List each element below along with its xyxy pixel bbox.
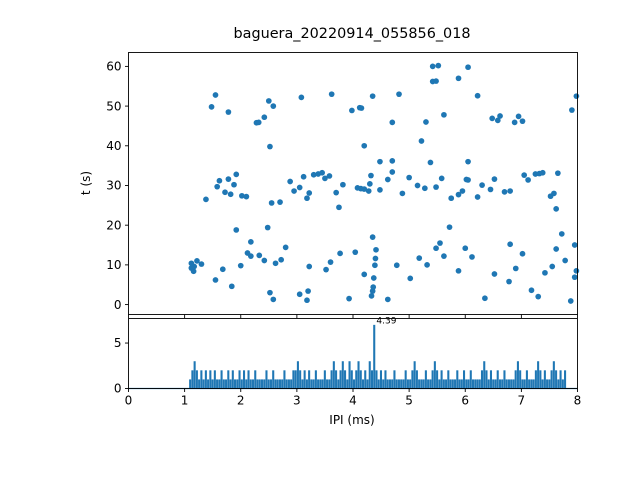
scatter-point	[228, 191, 234, 197]
histogram-bar	[239, 370, 241, 388]
histogram-bar	[227, 370, 229, 388]
histogram-bar	[560, 370, 562, 388]
scatter-point	[199, 261, 205, 267]
histogram-bar	[418, 379, 420, 388]
histogram-bar	[420, 379, 422, 388]
histogram-bar	[452, 379, 454, 388]
scatter-point	[189, 260, 195, 266]
histogram-bar	[524, 379, 526, 388]
histogram-bar	[191, 370, 193, 388]
histogram-bar	[537, 361, 539, 388]
histogram-bar	[216, 379, 218, 388]
scatter-point	[336, 204, 342, 210]
histogram-bar	[196, 370, 198, 388]
histogram-bar	[521, 379, 523, 388]
scatter-point	[266, 98, 272, 104]
histogram-bar	[443, 379, 445, 388]
histogram-bar	[551, 370, 553, 388]
scatter-point	[340, 182, 346, 188]
histogram-bar	[472, 379, 474, 388]
histogram-bar	[290, 379, 292, 388]
histogram-bar	[506, 379, 508, 388]
scatter-point	[209, 104, 215, 110]
histogram-bar	[218, 379, 220, 388]
histogram-bar	[355, 370, 357, 388]
histogram-bar	[508, 379, 510, 388]
histogram-bar	[414, 361, 416, 388]
scatter-point	[492, 271, 498, 277]
scatter-point	[349, 108, 355, 114]
scatter-point	[333, 190, 339, 196]
scatter-point	[256, 253, 262, 259]
histogram-bar	[465, 379, 467, 388]
histogram-bar	[241, 379, 243, 388]
histogram-bar	[256, 379, 258, 388]
histogram-bar	[542, 379, 544, 388]
scatter-point	[433, 78, 439, 84]
histogram-bar	[557, 379, 559, 388]
histogram-bar	[553, 361, 555, 388]
scatter-point	[559, 231, 565, 237]
scatter-point	[233, 172, 239, 178]
histogram-bar	[474, 379, 476, 388]
scatter-point	[366, 188, 372, 194]
histogram-bar	[236, 379, 238, 388]
scatter-point	[244, 194, 250, 200]
scatter-point	[287, 179, 293, 185]
histogram-bar	[279, 379, 281, 388]
scatter-point	[553, 206, 559, 212]
histogram-bar	[304, 370, 306, 388]
histogram-bar	[427, 379, 429, 388]
histogram-bar	[378, 379, 380, 388]
histogram-bar	[299, 370, 301, 388]
scatter-point	[269, 200, 275, 206]
scatter-point	[400, 191, 406, 197]
histogram-bar	[277, 379, 279, 388]
y-tick-label: 10	[106, 258, 121, 272]
histogram-bar	[391, 379, 393, 388]
histogram-bar	[310, 379, 312, 388]
scatter-point	[433, 184, 439, 190]
histogram-bar	[384, 370, 386, 388]
scatter-point	[305, 288, 311, 294]
histogram-bar	[434, 361, 436, 388]
scatter-point	[373, 247, 379, 253]
x-tick-label: 1	[181, 394, 189, 408]
histogram-bar	[254, 370, 256, 388]
x-tick-label: 5	[405, 394, 413, 408]
histogram-bar	[459, 379, 461, 388]
scatter-point	[217, 178, 223, 184]
scatter-point	[416, 255, 422, 261]
scatter-point	[389, 169, 395, 175]
scatter-point	[435, 63, 441, 69]
histogram-bar	[492, 379, 494, 388]
scatter-point	[372, 262, 378, 268]
histogram-bar	[512, 379, 514, 388]
scatter-point	[377, 159, 383, 165]
histogram-bar	[207, 379, 209, 388]
histogram-bar	[447, 370, 449, 388]
scatter-point	[549, 264, 555, 270]
peak-annotation-label: 4.39	[376, 316, 396, 326]
histogram-bar	[252, 379, 254, 388]
scatter-point	[361, 272, 367, 278]
histogram-bar	[295, 370, 297, 388]
x-axis-label: IPI (ms)	[329, 413, 374, 427]
scatter-point	[346, 296, 352, 302]
scatter-point	[568, 298, 574, 304]
scatter-point	[506, 279, 512, 285]
histogram-bar	[230, 379, 232, 388]
histogram-bar	[369, 361, 371, 388]
histogram-bar	[322, 379, 324, 388]
scatter-point	[248, 253, 254, 259]
histogram-bar	[546, 379, 548, 388]
scatter-point	[415, 183, 421, 189]
histogram-bar	[450, 379, 452, 388]
histogram-annotations-group: 4.39	[376, 316, 396, 326]
histogram-bar	[463, 370, 465, 388]
histogram-bar	[205, 370, 207, 388]
scatter-point	[465, 64, 471, 70]
histogram-bar	[445, 379, 447, 388]
histogram-bar	[308, 370, 310, 388]
histogram-bar	[382, 379, 384, 388]
scatter-point	[267, 290, 273, 296]
scatter-point	[270, 297, 276, 303]
histogram-bar	[526, 370, 528, 388]
matplotlib-figure: baguera_20220914_055856_018 010203040506…	[0, 0, 640, 480]
histogram-bar	[335, 370, 337, 388]
y-tick-label: 50	[106, 99, 121, 113]
scatter-point	[377, 187, 383, 193]
scatter-point	[521, 172, 527, 178]
histogram-bar	[288, 379, 290, 388]
histogram-bar	[225, 379, 227, 388]
scatter-point	[304, 297, 310, 303]
histogram-bar	[416, 370, 418, 388]
scatter-point	[370, 93, 376, 99]
scatter-point	[270, 103, 276, 109]
histogram-bar	[429, 379, 431, 388]
scatter-point	[555, 170, 561, 176]
scatter-point	[512, 120, 518, 126]
scatter-point	[222, 189, 228, 195]
scatter-point	[389, 120, 395, 126]
histogram-bar	[364, 370, 366, 388]
histogram-bar	[333, 361, 335, 388]
histogram-bar	[396, 379, 398, 388]
x-tick-label: 8	[574, 394, 582, 408]
histogram-bar	[337, 379, 339, 388]
scatter-point	[323, 267, 329, 273]
scatter-point	[507, 241, 513, 247]
scatter-point	[385, 297, 391, 303]
scatter-point	[513, 266, 519, 272]
histogram-bar	[373, 325, 375, 389]
histogram-bar	[245, 379, 247, 388]
scatter-point	[319, 170, 325, 176]
histogram-bar	[263, 379, 265, 388]
scatter-point	[574, 268, 580, 274]
histogram-bar	[324, 370, 326, 388]
histogram-bar	[301, 379, 303, 388]
histogram-bar	[544, 370, 546, 388]
histogram-bar	[530, 379, 532, 388]
scatter-point	[273, 260, 279, 266]
histogram-bar	[362, 379, 364, 388]
histogram-bar	[346, 379, 348, 388]
scatter-point	[462, 245, 468, 251]
scatter-point	[465, 159, 471, 165]
scatter-point	[226, 109, 232, 115]
scatter-point	[553, 246, 559, 252]
scatter-point	[447, 224, 453, 230]
scatter-point	[502, 189, 508, 195]
histogram-bar	[223, 379, 225, 388]
histogram-bar	[234, 379, 236, 388]
histogram-bar	[319, 379, 321, 388]
histogram-bar	[306, 379, 308, 388]
histogram-bar	[456, 370, 458, 388]
histogram-bar	[340, 370, 342, 388]
histogram-bar	[326, 379, 328, 388]
y-axis-label: t (s)	[79, 171, 93, 195]
scatter-point	[370, 284, 376, 290]
histogram-bar	[389, 379, 391, 388]
scatter-point	[261, 258, 267, 264]
scatter-point	[529, 287, 535, 293]
histogram-bar	[375, 370, 377, 388]
histogram-bar	[297, 361, 299, 388]
histogram-bar	[200, 370, 202, 388]
histogram-bar	[533, 379, 535, 388]
scatter-point	[574, 93, 580, 99]
x-tick-label: 7	[518, 394, 526, 408]
scatter-point	[396, 91, 402, 97]
scatter-point	[352, 249, 358, 255]
histogram-bar	[286, 379, 288, 388]
histogram-bar	[313, 379, 315, 388]
histogram-bar	[317, 379, 319, 388]
x-tick-label: 0	[125, 394, 133, 408]
scatter-point	[283, 245, 289, 251]
scatter-point	[423, 119, 429, 125]
scatter-point	[213, 92, 219, 98]
scatter-point	[301, 174, 307, 180]
scatter-point	[520, 118, 526, 124]
scatter-point	[441, 253, 447, 259]
histogram-bar	[328, 379, 330, 388]
histogram-bar	[467, 379, 469, 388]
histogram-bar	[212, 379, 214, 388]
scatter-point	[329, 91, 335, 97]
histogram-bar	[481, 370, 483, 388]
page-title: baguera_20220914_055856_018	[233, 26, 470, 42]
histogram-bar	[499, 379, 501, 388]
histogram-bar	[198, 379, 200, 388]
scatter-point	[229, 283, 235, 289]
histogram-bar	[510, 379, 512, 388]
scatter-point	[540, 170, 546, 176]
histogram-bar	[387, 379, 389, 388]
scatter-point	[572, 242, 578, 248]
scatter-point	[361, 143, 367, 149]
x-tick-label: 3	[293, 394, 301, 408]
scatter-point	[297, 291, 303, 297]
histogram-bar	[261, 379, 263, 388]
scatter-point	[233, 227, 239, 233]
histogram-bar	[203, 379, 205, 388]
histogram-bar	[349, 361, 351, 388]
histogram-bar	[454, 379, 456, 388]
scatter-point	[299, 95, 305, 101]
figure-background	[0, 0, 640, 480]
histogram-bar	[247, 370, 249, 388]
scatter-point	[328, 259, 334, 265]
histogram-bar	[461, 379, 463, 388]
scatter-point	[460, 188, 466, 194]
histogram-bar	[351, 370, 353, 388]
scatter-point	[569, 107, 575, 113]
scatter-point	[248, 239, 254, 245]
histogram-bar	[270, 379, 272, 388]
scatter-point	[327, 173, 333, 179]
scatter-point	[231, 182, 237, 188]
scatter-point	[291, 188, 297, 194]
scatter-point	[424, 262, 430, 268]
histogram-bar	[331, 370, 333, 388]
scatter-point	[370, 234, 376, 240]
scatter-point	[542, 270, 548, 276]
histogram-bar	[344, 370, 346, 388]
y-tick-label: 40	[106, 139, 121, 153]
histogram-bar	[405, 370, 407, 388]
histogram-bar	[357, 361, 359, 388]
scatter-point	[422, 185, 428, 191]
histogram-bar	[272, 370, 274, 388]
y-tick-label: 20	[106, 218, 121, 232]
histogram-bar	[209, 370, 211, 388]
scatter-point	[551, 191, 557, 197]
y-tick-label: 30	[106, 179, 121, 193]
histogram-bar	[501, 379, 503, 388]
scatter-point	[214, 184, 220, 190]
scatter-point	[439, 175, 445, 181]
scatter-point	[306, 264, 312, 270]
scatter-point	[419, 138, 425, 144]
histogram-bar	[488, 379, 490, 388]
histogram-bar	[490, 370, 492, 388]
histogram-bar	[517, 361, 519, 388]
histogram-bar	[366, 379, 368, 388]
histogram-bar	[515, 370, 517, 388]
histogram-bar	[555, 370, 557, 388]
histogram-bar	[292, 370, 294, 388]
histogram-bar	[398, 379, 400, 388]
scatter-point	[428, 160, 434, 166]
scatter-point	[525, 177, 531, 183]
scatter-point	[492, 176, 498, 182]
histogram-bar	[221, 370, 223, 388]
y-tick-label: 60	[106, 60, 121, 74]
histogram-bar	[528, 379, 530, 388]
histogram-bar	[564, 370, 566, 388]
scatter-point	[267, 144, 273, 150]
scatter-point	[359, 105, 365, 111]
histogram-bar	[476, 379, 478, 388]
scatter-point	[479, 182, 485, 188]
histogram-bar	[548, 379, 550, 388]
histogram-bar	[380, 370, 382, 388]
scatter-point	[448, 195, 454, 201]
histogram-bar	[411, 370, 413, 388]
histogram-bar	[425, 370, 427, 388]
histogram-bar	[483, 361, 485, 388]
scatter-point	[265, 225, 271, 231]
histogram-bar	[503, 370, 505, 388]
scatter-point	[507, 188, 513, 194]
histogram-bar	[562, 379, 564, 388]
scatter-point	[368, 173, 374, 179]
scatter-point	[406, 175, 412, 181]
scatter-point	[278, 257, 284, 263]
scatter-point	[394, 262, 400, 268]
scatter-point	[297, 185, 303, 191]
scatter-point	[407, 276, 413, 282]
histogram-bar	[539, 370, 541, 388]
histogram-bar	[274, 379, 276, 388]
scatter-point	[475, 93, 481, 99]
histogram-bar	[519, 370, 521, 388]
y-tick-label: 5	[114, 336, 122, 350]
histogram-bar	[485, 370, 487, 388]
scatter-point	[367, 181, 373, 187]
histogram-bar	[360, 370, 362, 388]
scatter-point	[226, 176, 232, 182]
scatter-point	[261, 114, 267, 120]
histogram-bar	[409, 379, 411, 388]
scatter-point	[213, 277, 219, 283]
histogram-bar	[250, 379, 252, 388]
scatter-point	[516, 114, 522, 120]
scatter-point	[277, 199, 283, 205]
scatter-point	[385, 177, 391, 183]
histogram-bar	[535, 370, 537, 388]
histogram-bar	[423, 379, 425, 388]
scatter-point	[304, 195, 310, 201]
scatter-point	[306, 190, 312, 196]
scatter-point	[369, 293, 375, 299]
x-tick-label: 4	[349, 394, 357, 408]
scatter-point	[456, 75, 462, 81]
y-tick-label: 0	[114, 382, 122, 396]
histogram-bar	[436, 370, 438, 388]
scatter-point	[433, 245, 439, 251]
scatter-point	[497, 113, 503, 119]
scatter-point	[572, 274, 578, 280]
figure-canvas: baguera_20220914_055856_018 010203040506…	[0, 0, 640, 480]
histogram-bar	[497, 370, 499, 388]
histogram-bar	[494, 379, 496, 388]
scatter-point	[469, 254, 475, 260]
histogram-bar	[214, 370, 216, 388]
histogram-bar	[353, 379, 355, 388]
scatter-point	[203, 197, 209, 203]
histogram-bar	[315, 370, 317, 388]
